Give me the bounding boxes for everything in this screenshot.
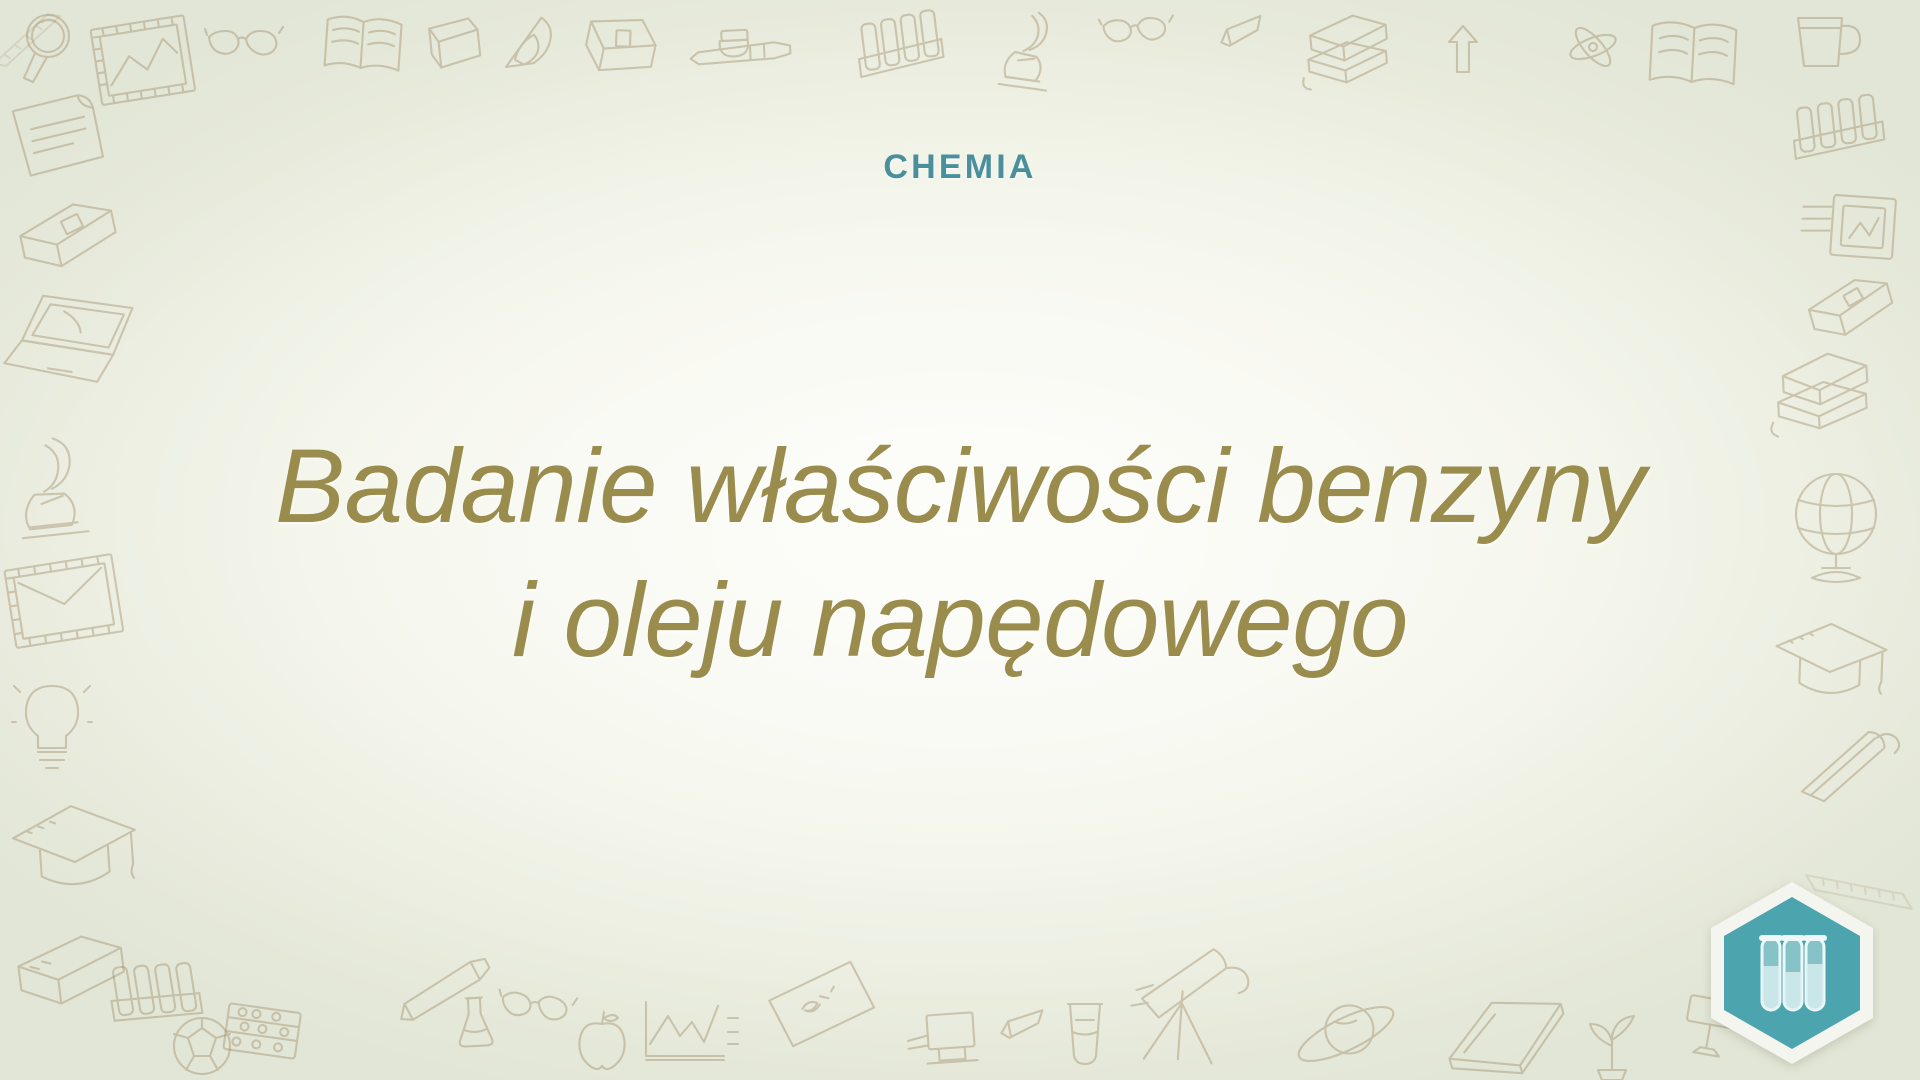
closed-book-icon xyxy=(7,189,131,288)
line-chart-icon xyxy=(638,998,742,1068)
stamp-photo-icon xyxy=(86,10,202,111)
test-tube-rack-icon xyxy=(102,949,211,1053)
telescope-icon xyxy=(1123,928,1264,1073)
graduation-cap-icon xyxy=(3,793,148,906)
flask-icon xyxy=(454,991,497,1049)
planet-saturn-icon xyxy=(1284,992,1408,1075)
test-tube-rack-icon xyxy=(850,5,953,108)
projector-icon xyxy=(906,1005,992,1071)
abacus-icon xyxy=(218,997,306,1068)
notebook-icon xyxy=(7,925,137,1027)
ruler-icon xyxy=(0,4,74,77)
presentation-slide: CHEMIA Badanie właściwości benzyny i ole… xyxy=(0,0,1920,1080)
laptop-icon xyxy=(3,285,144,396)
apple-icon xyxy=(576,1010,628,1070)
page-title: Badanie właściwości benzyny i oleju napę… xyxy=(0,420,1920,689)
three-test-tubes-icon xyxy=(1759,935,1827,1010)
magnifier-icon xyxy=(18,8,82,84)
pencil-icon xyxy=(386,948,499,1030)
up-arrow-icon xyxy=(1445,22,1481,76)
subject-label: CHEMIA xyxy=(0,148,1920,187)
open-book-icon xyxy=(1431,979,1583,1080)
formula-card-icon xyxy=(760,954,884,1056)
notebook-icon xyxy=(573,4,667,93)
eraser-icon xyxy=(1212,9,1273,55)
beaker-icon xyxy=(1060,998,1110,1068)
closed-book-icon xyxy=(422,13,488,77)
chemistry-test-tubes-hexagon-badge xyxy=(1708,880,1876,1066)
pen-inkwell-icon xyxy=(689,19,795,74)
open-book-icon xyxy=(318,7,407,85)
closed-book-icon xyxy=(1798,266,1907,355)
paint-roller-icon xyxy=(1778,713,1918,818)
atom-icon xyxy=(1560,18,1625,76)
mug-icon xyxy=(1790,8,1864,74)
eraser-icon xyxy=(993,1004,1052,1045)
plant-icon xyxy=(1580,1012,1644,1080)
stacked-books-icon xyxy=(1296,4,1404,104)
eyeglasses-icon xyxy=(496,987,577,1034)
soccer-ball-icon xyxy=(170,1014,234,1078)
eyeglasses-icon xyxy=(205,25,283,67)
picture-frame-icon xyxy=(1796,186,1905,267)
open-book-icon xyxy=(1643,12,1743,99)
title-line-1: Badanie właściwości benzyny xyxy=(0,420,1920,554)
microscope-icon xyxy=(989,2,1072,107)
eyeglasses-icon xyxy=(1099,11,1176,56)
lightbulb-icon xyxy=(12,678,92,774)
protractor-icon xyxy=(491,10,561,78)
title-line-2: i oleju napędowego xyxy=(0,554,1920,688)
